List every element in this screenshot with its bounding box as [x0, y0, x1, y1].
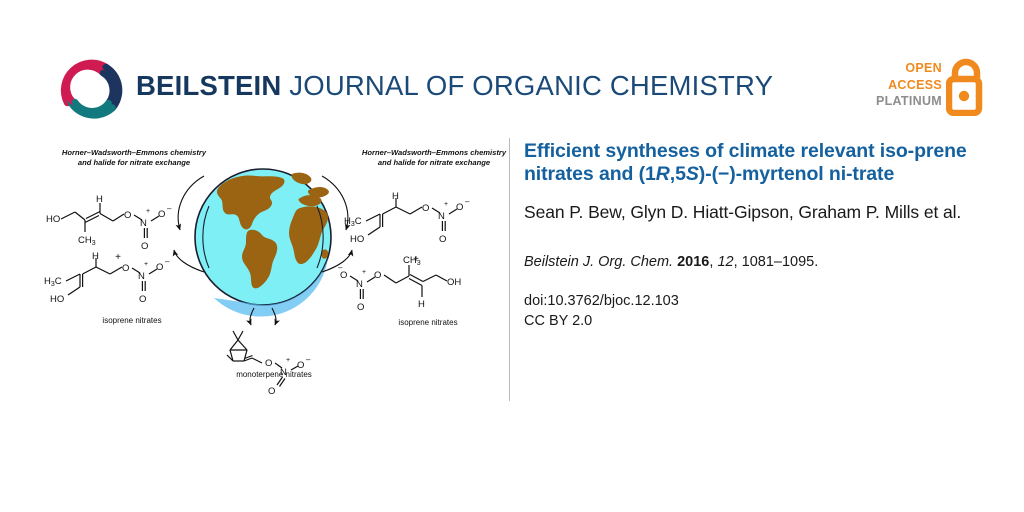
atom-label-N: N [140, 218, 147, 229]
structure-isoprene-nitrate-left-2: H3C HO H O N + O – O [44, 251, 170, 305]
citation-journal: Beilstein J. Org. Chem. [524, 254, 673, 270]
atom-label-O-double-2: O [139, 294, 146, 305]
atom-label-H3C-r1: H3C [344, 216, 362, 228]
article-title-stereo-R: R [656, 163, 670, 185]
article-citation: Beilstein J. Org. Chem. 2016, 12, 1081–1… [524, 253, 972, 272]
article-title-stereo-S: S [686, 163, 699, 185]
atom-label-O-double-r2: O [357, 302, 364, 313]
atom-label-O-minus-r1: O [456, 202, 463, 213]
atom-label-O-double: O [141, 241, 148, 252]
atom-label-O-ester-mono: O [265, 358, 272, 369]
atom-label-N-r1: N [438, 211, 445, 222]
atom-label-O-minus-2: O [156, 262, 163, 273]
article-cover-page: BEILSTEIN JOURNAL OF ORGANIC CHEMISTRY O… [0, 0, 1024, 512]
atom-label-O-ester-2: O [122, 263, 129, 274]
atom-label-HO: HO [46, 214, 60, 225]
brand-bold: BEILSTEIN [136, 70, 281, 101]
label-monoterpene-nitrates: monoterpene nitrates [194, 370, 354, 379]
atom-label-CH3: CH3 [78, 235, 96, 247]
atom-label-O-double-r1: O [439, 234, 446, 245]
atom-label-N-r2: N [356, 279, 363, 290]
atom-label-O-minus: O [158, 209, 165, 220]
caption-right-reaction: Horner–Wadsworth–Emmons chemistry and ha… [358, 148, 510, 167]
caption-left-reaction: Horner–Wadsworth–Emmons chemistry and ha… [58, 148, 210, 167]
graphical-abstract-artwork: HO CH3 H O N + O – O [28, 132, 498, 400]
atom-label-O-charge-mono: – [306, 355, 311, 364]
atom-label-N-plus-mono: + [286, 357, 290, 364]
beilstein-spiral-logo [56, 56, 126, 126]
earth-globe-graphic [195, 169, 331, 317]
article-title-part3: )-(−)-myrtenol ni-trate [699, 163, 894, 185]
atom-label-N-plus: + [146, 208, 150, 215]
open-lock-icon [946, 58, 988, 116]
article-metadata: Efficient syntheses of climate relevant … [524, 140, 972, 331]
article-authors: Sean P. Bew, Glyn D. Hiatt-Gipson, Graha… [524, 201, 972, 224]
open-access-line2: ACCESS [876, 77, 942, 94]
open-access-badge: OPEN ACCESS PLATINUM [876, 58, 988, 120]
open-access-line1: OPEN [876, 60, 942, 77]
plus-sign-right: + [406, 254, 426, 265]
atom-label-O-ester-r2: O [374, 270, 381, 281]
brand-regular: JOURNAL OF ORGANIC CHEMISTRY [281, 70, 773, 101]
article-title[interactable]: Efficient syntheses of climate relevant … [524, 140, 972, 185]
citation-year: 2016 [677, 254, 709, 270]
open-access-line3: PLATINUM [876, 93, 942, 110]
atom-label-O-charge-r1: – [465, 197, 470, 206]
atom-label-O-ester: O [124, 210, 131, 221]
atom-label-N-plus-r2: + [362, 269, 366, 276]
citation-volume: 12 [717, 254, 733, 270]
article-title-part2: ,5 [670, 163, 686, 185]
journal-header: BEILSTEIN JOURNAL OF ORGANIC CHEMISTRY O… [0, 0, 1024, 130]
atom-label-N-2: N [138, 271, 145, 282]
structure-isoprene-nitrate-right-1: H3C HO H O N + O – O [344, 191, 470, 245]
atom-label-H: H [96, 194, 103, 205]
atom-label-OH-r2: OH [447, 277, 461, 288]
citation-pages: 1081–1095. [742, 254, 819, 270]
column-divider [509, 138, 510, 401]
article-license[interactable]: CC BY 2.0 [524, 312, 972, 331]
atom-label-O-charge: – [167, 204, 172, 213]
atom-label-HO-2: HO [50, 294, 64, 305]
atom-label-N-plus-2: + [144, 261, 148, 268]
atom-label-H3C: H3C [44, 276, 62, 288]
atom-label-O-charge-2: – [165, 257, 170, 266]
atom-label-HO-r1: HO [350, 234, 364, 245]
atom-label-O-charge-r2: – [338, 263, 343, 272]
graphical-abstract: HO CH3 H O N + O – O [28, 132, 498, 400]
structure-isoprene-nitrate-left-1: HO CH3 H O N + O – O [46, 194, 172, 252]
journal-title: BEILSTEIN JOURNAL OF ORGANIC CHEMISTRY [136, 70, 773, 102]
structure-monoterpene-nitrate: O N + O – O [227, 331, 311, 397]
structure-isoprene-nitrate-right-2: O – N + O O CH3 H OH [338, 255, 461, 313]
article-doi[interactable]: doi:10.3762/bjoc.12.103 [524, 292, 972, 311]
atom-label-N-plus-r1: + [444, 201, 448, 208]
label-isoprene-nitrates-left: isoprene nitrates [62, 316, 202, 325]
atom-label-H-r2: H [418, 299, 425, 310]
atom-label-O-ester-r1: O [422, 203, 429, 214]
plus-sign-left: + [108, 252, 128, 263]
label-isoprene-nitrates-right: isoprene nitrates [358, 318, 498, 327]
atom-label-O-double-mono: O [268, 386, 275, 397]
